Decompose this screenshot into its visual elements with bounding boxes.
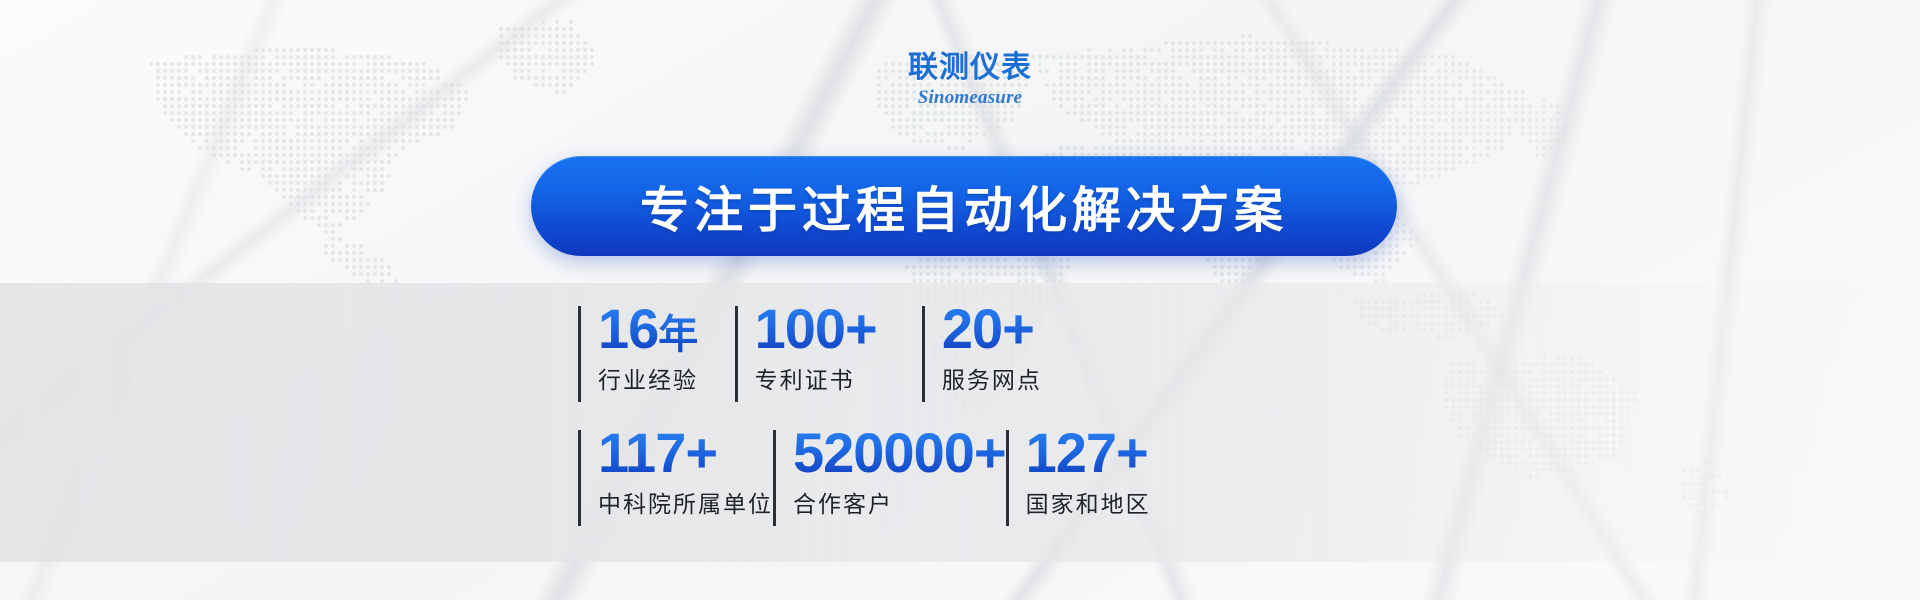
stats-row: 117+中科院所属单位520000+合作客户127+国家和地区 — [578, 424, 1098, 548]
stats-grid: 16年行业经验100+专利证书20+服务网点 117+中科院所属单位520000… — [578, 300, 1098, 548]
stat-item: 100+专利证书 — [735, 300, 922, 424]
stat-unit: 年 — [658, 313, 698, 357]
stat-value: 127+ — [1026, 424, 1151, 481]
stat-label: 服务网点 — [942, 361, 1098, 395]
stat-label: 合作客户 — [793, 485, 1006, 519]
stat-item: 117+中科院所属单位 — [578, 424, 773, 548]
stat-item: 20+服务网点 — [922, 300, 1098, 424]
banner-stage: 联测仪表 Sinomeasure 专注于过程自动化解决方案 16年行业经验100… — [0, 0, 1920, 600]
stat-label: 中科院所属单位 — [598, 485, 773, 519]
stat-value: 100+ — [755, 300, 922, 357]
stat-item: 520000+合作客户 — [773, 424, 1006, 548]
headline-text: 专注于过程自动化解决方案 — [640, 171, 1288, 242]
stat-value: 520000+ — [793, 424, 1006, 481]
stat-item: 16年行业经验 — [578, 300, 735, 424]
logo-chinese-name: 联测仪表 — [880, 52, 1060, 84]
stats-row: 16年行业经验100+专利证书20+服务网点 — [578, 300, 1098, 424]
stat-value: 20+ — [942, 300, 1098, 357]
stat-value: 117+ — [598, 424, 773, 481]
company-logo: 联测仪表 Sinomeasure — [880, 52, 1060, 109]
stat-label: 专利证书 — [755, 361, 922, 395]
headline-pill: 专注于过程自动化解决方案 — [531, 156, 1397, 256]
stat-item: 127+国家和地区 — [1006, 424, 1151, 548]
stat-value: 16年 — [598, 300, 735, 357]
stat-label: 行业经验 — [598, 361, 735, 395]
stat-label: 国家和地区 — [1026, 485, 1151, 519]
logo-english-name: Sinomeasure — [880, 87, 1060, 109]
